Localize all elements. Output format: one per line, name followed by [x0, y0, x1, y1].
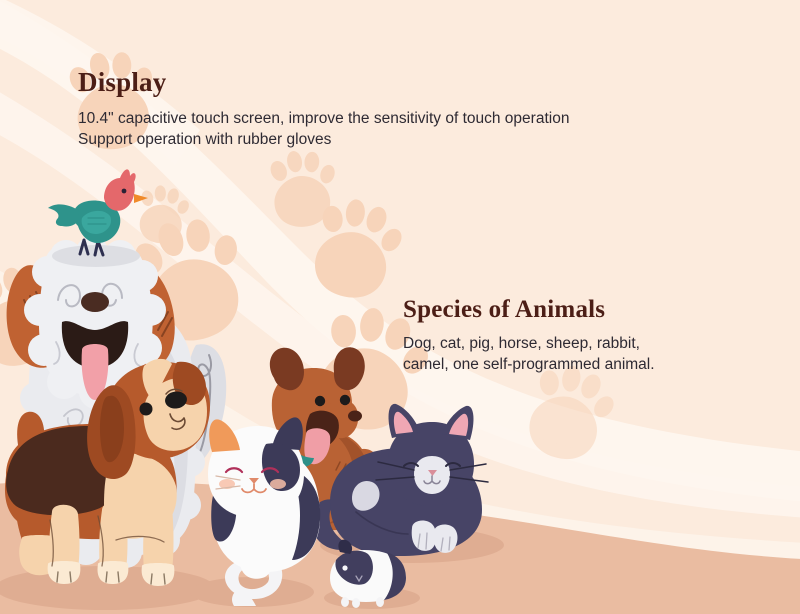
species-body: Dog, cat, pig, horse, sheep, rabbit, cam…: [403, 333, 793, 375]
display-heading: Display: [78, 66, 778, 98]
display-body-line-1: 10.4" capacitive touch screen, improve t…: [78, 108, 778, 129]
display-section: Display 10.4" capacitive touch screen, i…: [78, 66, 778, 150]
species-section: Species of Animals Dog, cat, pig, horse,…: [403, 295, 793, 375]
species-body-line-2: camel, one self-programmed animal.: [403, 354, 793, 375]
infographic-poster: Display 10.4" capacitive touch screen, i…: [0, 0, 800, 614]
display-body-line-2: Support operation with rubber gloves: [78, 129, 778, 150]
species-body-line-1: Dog, cat, pig, horse, sheep, rabbit,: [403, 333, 793, 354]
species-heading: Species of Animals: [403, 295, 793, 325]
display-body: 10.4" capacitive touch screen, improve t…: [78, 108, 778, 150]
